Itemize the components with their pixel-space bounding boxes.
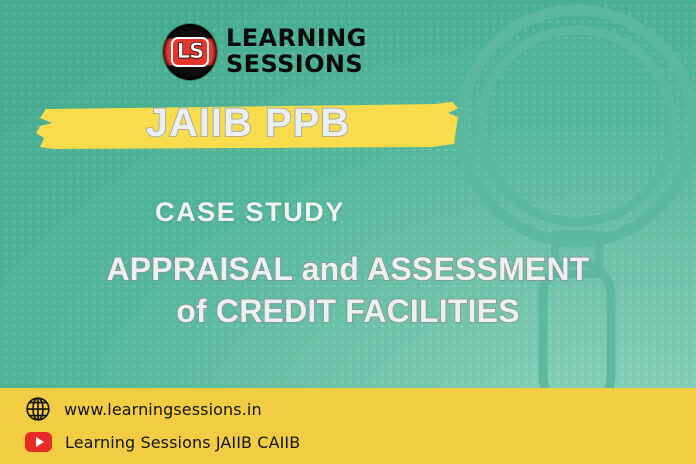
brand-name-line1: LEARNING	[226, 27, 367, 51]
website-label: www.learningsessions.in	[64, 400, 262, 419]
youtube-icon	[25, 432, 52, 452]
brand-name-line2: SESSIONS	[226, 53, 367, 77]
youtube-channel-label: Learning Sessions JAIIB CAIIB	[65, 433, 300, 452]
subtitle: CASE STUDY	[0, 197, 696, 228]
ls-circle-logo: LS	[163, 24, 217, 80]
page-title: APPRAISAL and ASSESSMENT of CREDIT FACIL…	[0, 248, 696, 332]
brand-logo: LS LEARNING SESSIONS	[163, 24, 367, 80]
poster-canvas: LS LEARNING SESSIONS JAIIB PPB CASE STUD…	[0, 0, 696, 464]
footer-bar: www.learningsessions.in Learning Session…	[0, 388, 696, 464]
ls-chip-text: LS	[177, 41, 204, 62]
globe-icon	[25, 396, 51, 422]
course-banner-label: JAIIB PPB	[34, 95, 462, 151]
course-banner: JAIIB PPB	[34, 96, 462, 152]
ls-chip: LS	[171, 37, 209, 67]
website-row[interactable]: www.learningsessions.in	[25, 396, 262, 422]
brand-wordmark: LEARNING SESSIONS	[226, 27, 367, 76]
youtube-row[interactable]: Learning Sessions JAIIB CAIIB	[25, 432, 300, 452]
